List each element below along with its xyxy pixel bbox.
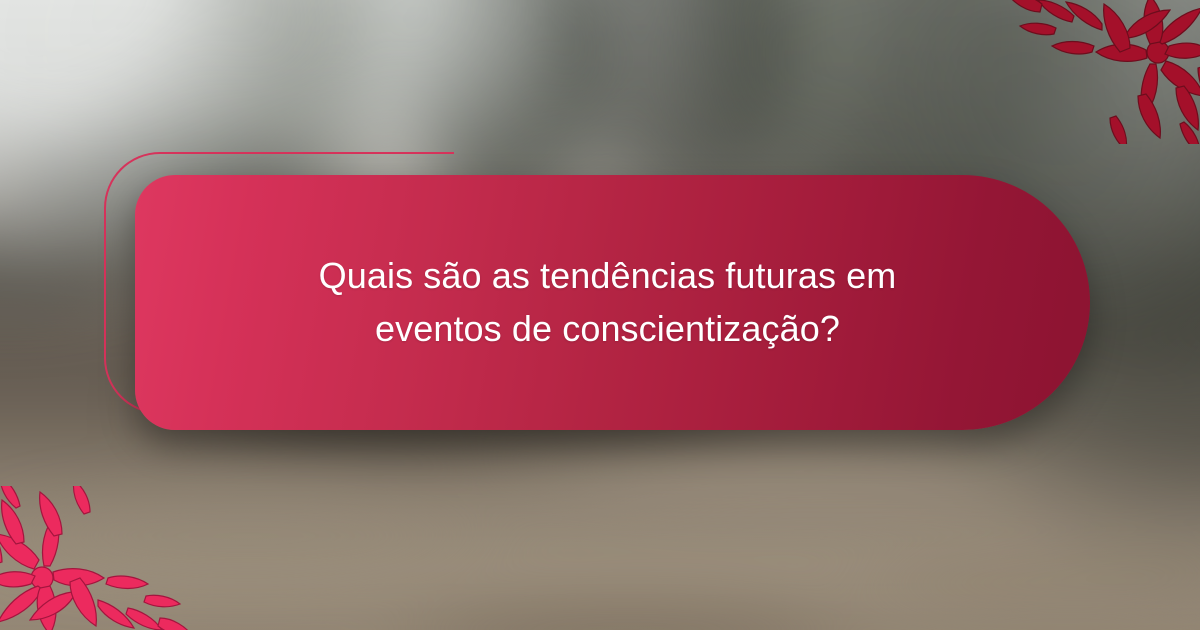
- social-card-canvas: Quais são as tendências futuras em event…: [0, 0, 1200, 630]
- card-title: Quais são as tendências futuras em event…: [258, 250, 958, 354]
- headline-card: Quais são as tendências futuras em event…: [135, 175, 1090, 430]
